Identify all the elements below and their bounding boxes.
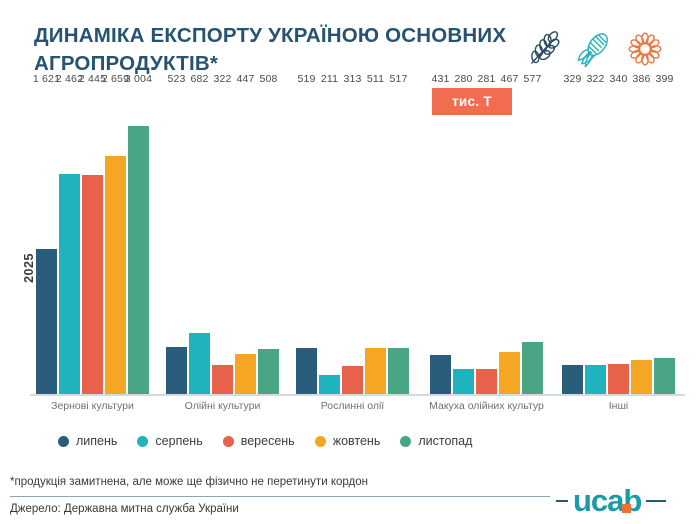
bar-item[interactable]: 3 004 bbox=[128, 88, 149, 394]
bar[interactable]: 508 bbox=[258, 349, 279, 394]
bar-value-label: 211 bbox=[321, 73, 338, 85]
wheat-ear-icon bbox=[524, 28, 566, 75]
legend-color-swatch bbox=[58, 436, 69, 447]
bar-group: 431280281467577 bbox=[430, 88, 543, 394]
bar-item[interactable]: 1 621 bbox=[36, 88, 57, 394]
logo-rule-left bbox=[556, 500, 568, 502]
chart-legend: липеньсерпеньвересеньжовтеньлистопад bbox=[30, 428, 670, 454]
bar[interactable]: 329 bbox=[562, 365, 583, 394]
bar-value-label: 322 bbox=[586, 73, 604, 85]
legend-label: серпень bbox=[155, 434, 202, 448]
bar-item[interactable]: 329 bbox=[562, 88, 583, 394]
bar[interactable]: 3 004 bbox=[128, 126, 149, 394]
bar-item[interactable]: 519 bbox=[296, 88, 317, 394]
bar-item[interactable]: 577 bbox=[522, 88, 543, 394]
bar[interactable]: 340 bbox=[608, 364, 629, 394]
logo-wordmark: ucab bbox=[573, 484, 641, 518]
bar[interactable]: 386 bbox=[631, 360, 652, 394]
bar[interactable]: 519 bbox=[296, 348, 317, 394]
category-label: Інші bbox=[609, 400, 628, 412]
legend-color-swatch bbox=[315, 436, 326, 447]
bar-value-label: 447 bbox=[236, 73, 254, 85]
sunflower-icon bbox=[624, 28, 666, 75]
bar-item[interactable]: 2 659 bbox=[105, 88, 126, 394]
legend-label: жовтень bbox=[333, 434, 381, 448]
footer-divider bbox=[10, 496, 550, 497]
y-axis-label: 2025 bbox=[22, 233, 36, 303]
category-label: Зернові культури bbox=[51, 400, 134, 412]
bar-value-label: 682 bbox=[190, 73, 208, 85]
bar[interactable]: 2 659 bbox=[105, 156, 126, 394]
category-label: Рослинні олії bbox=[321, 400, 384, 412]
bar-value-label: 313 bbox=[343, 73, 361, 85]
bar-group: 519211313511517 bbox=[296, 88, 409, 394]
bar-value-label: 519 bbox=[297, 73, 315, 85]
bar-item[interactable]: 431 bbox=[430, 88, 451, 394]
bar-item[interactable]: 2 462 bbox=[59, 88, 80, 394]
bar-item[interactable]: 511 bbox=[365, 88, 386, 394]
legend-label: вересень bbox=[241, 434, 295, 448]
bar-value-label: 399 bbox=[655, 73, 673, 85]
bar-item[interactable]: 523 bbox=[166, 88, 187, 394]
legend-color-swatch bbox=[223, 436, 234, 447]
bar-item[interactable]: 386 bbox=[631, 88, 652, 394]
bar-item[interactable]: 313 bbox=[342, 88, 363, 394]
bar[interactable]: 447 bbox=[235, 354, 256, 394]
bar-value-label: 280 bbox=[454, 73, 472, 85]
ucab-logo[interactable]: ucab bbox=[556, 480, 696, 522]
bar-group: 329322340386399 bbox=[562, 88, 675, 394]
bar-value-label: 577 bbox=[523, 73, 541, 85]
bar-item[interactable]: 399 bbox=[654, 88, 675, 394]
bar-item[interactable]: 517 bbox=[388, 88, 409, 394]
bar-chart-plot: 2025 1 6212 4622 4452 6593 0045236823224… bbox=[0, 86, 700, 396]
bar[interactable]: 467 bbox=[499, 352, 520, 394]
logo-rule-right bbox=[646, 500, 666, 502]
bar-value-label: 329 bbox=[563, 73, 581, 85]
bar[interactable]: 313 bbox=[342, 366, 363, 394]
bar[interactable]: 517 bbox=[388, 348, 409, 394]
agro-icons-group bbox=[524, 26, 672, 76]
bar[interactable]: 211 bbox=[319, 375, 340, 394]
bar-value-label: 431 bbox=[431, 73, 449, 85]
bar-item[interactable]: 2 445 bbox=[82, 88, 103, 394]
bar[interactable]: 399 bbox=[654, 358, 675, 394]
corn-cob-icon bbox=[574, 28, 616, 75]
bar-value-label: 467 bbox=[500, 73, 518, 85]
bar-item[interactable]: 447 bbox=[235, 88, 256, 394]
legend-color-swatch bbox=[137, 436, 148, 447]
legend-item[interactable]: листопад bbox=[400, 434, 472, 448]
logo-text-label: ucab bbox=[573, 483, 641, 518]
category-label: Олійні культури bbox=[185, 400, 261, 412]
axis-baseline bbox=[30, 394, 685, 396]
bar-value-label: 386 bbox=[632, 73, 650, 85]
bar-value-label: 508 bbox=[259, 73, 277, 85]
bar[interactable]: 577 bbox=[522, 342, 543, 394]
bar-item[interactable]: 340 bbox=[608, 88, 629, 394]
bar[interactable]: 682 bbox=[189, 333, 210, 394]
bar-item[interactable]: 508 bbox=[258, 88, 279, 394]
bar-value-label: 281 bbox=[477, 73, 495, 85]
legend-color-swatch bbox=[400, 436, 411, 447]
legend-item[interactable]: серпень bbox=[137, 434, 202, 448]
bar[interactable]: 523 bbox=[166, 347, 187, 394]
bar[interactable]: 1 621 bbox=[36, 249, 57, 394]
legend-label: липень bbox=[76, 434, 117, 448]
bar-item[interactable]: 467 bbox=[499, 88, 520, 394]
bar-item[interactable]: 322 bbox=[585, 88, 606, 394]
bar-group: 523682322447508 bbox=[166, 88, 279, 394]
bar[interactable]: 281 bbox=[476, 369, 497, 394]
bar-value-label: 517 bbox=[389, 73, 407, 85]
bar-value-label: 523 bbox=[167, 73, 185, 85]
bar-value-label: 322 bbox=[213, 73, 231, 85]
bar[interactable]: 322 bbox=[585, 365, 606, 394]
footnote-text: *продукція замитнена, але може ще фізичн… bbox=[10, 476, 368, 488]
bar-item[interactable]: 281 bbox=[476, 88, 497, 394]
bar[interactable]: 431 bbox=[430, 355, 451, 394]
bar[interactable]: 2 445 bbox=[82, 175, 103, 394]
bar-item[interactable]: 682 bbox=[189, 88, 210, 394]
source-text: Джерело: Державна митна служба України bbox=[10, 503, 239, 515]
logo-accent-square bbox=[622, 504, 631, 513]
bar-value-label: 3 004 bbox=[125, 73, 152, 85]
legend-label: листопад bbox=[418, 434, 472, 448]
bar[interactable]: 322 bbox=[212, 365, 233, 394]
category-label: Макуха олійних культур bbox=[429, 400, 544, 412]
bar-item[interactable]: 280 bbox=[453, 88, 474, 394]
legend-item[interactable]: жовтень bbox=[315, 434, 381, 448]
bar[interactable]: 511 bbox=[365, 348, 386, 394]
bar-group: 1 6212 4622 4452 6593 004 bbox=[36, 88, 149, 394]
bar-value-label: 511 bbox=[367, 73, 384, 85]
bar-item[interactable]: 211 bbox=[319, 88, 340, 394]
bar[interactable]: 2 462 bbox=[59, 174, 80, 394]
bar[interactable]: 280 bbox=[453, 369, 474, 394]
legend-item[interactable]: вересень bbox=[223, 434, 295, 448]
page-title: ДИНАМІКА ЕКСПОРТУ УКРАЇНОЮ ОСНОВНИХ АГРО… bbox=[34, 22, 514, 78]
bar-item[interactable]: 322 bbox=[212, 88, 233, 394]
legend-item[interactable]: липень bbox=[58, 434, 117, 448]
bar-value-label: 340 bbox=[609, 73, 627, 85]
